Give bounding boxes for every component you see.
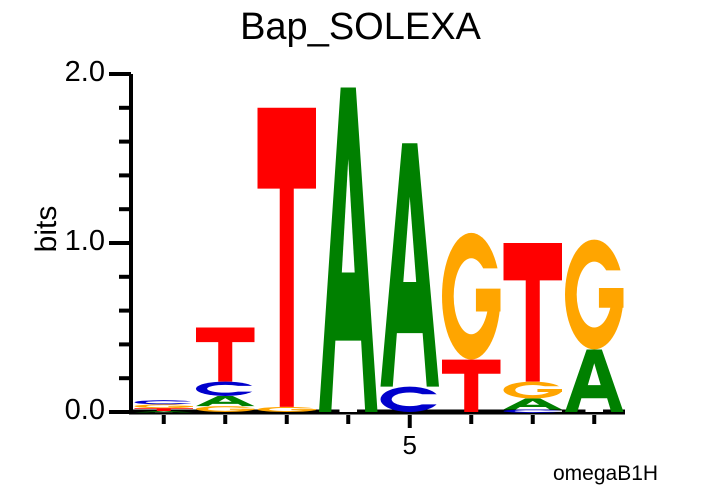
logo-letter-A	[504, 398, 563, 409]
logo-letter-C	[504, 409, 563, 412]
logo-column	[504, 243, 563, 413]
logo-letter-A	[319, 88, 378, 412]
y-axis-tick-label: 1.0	[0, 227, 105, 256]
letter-C-mouth	[414, 394, 439, 404]
letter-C-mouth	[229, 386, 254, 392]
letter-G-bar	[291, 409, 316, 410]
logo-letter-G	[504, 382, 563, 399]
logo-column	[319, 88, 378, 412]
footer-label: omegaB1H	[553, 462, 658, 486]
logo-letter-A	[381, 143, 440, 386]
letter-T-outline	[196, 328, 255, 382]
letter-A-leg-gap	[339, 386, 357, 412]
logo-stacks	[135, 88, 624, 413]
logo-letter-T	[258, 108, 317, 407]
letter-A-leg-gap	[216, 405, 234, 406]
logo-letter-A	[565, 349, 624, 412]
page-title: Bap_SOLEXA	[0, 6, 721, 49]
logo-letter-A	[196, 396, 255, 406]
x-axis-tick-label: 5	[380, 432, 440, 458]
y-axis-tick-label: 0.0	[0, 396, 105, 425]
letter-T-outline	[442, 360, 501, 412]
logo-column	[381, 143, 440, 412]
logo-letter-T	[442, 360, 501, 412]
logo-column	[258, 108, 317, 412]
logo-column	[442, 233, 501, 412]
logo-letter-G	[442, 233, 501, 360]
logo-column	[196, 328, 255, 413]
logo-letter-T	[196, 328, 255, 382]
logo-letter-G	[258, 407, 317, 412]
letter-G-bar	[168, 406, 193, 407]
logo-letter-C	[381, 387, 440, 412]
logo-letter-C	[135, 400, 194, 404]
letter-A-leg-gap	[585, 407, 603, 412]
sequence-logo-figure: Bap_SOLEXA bits 2.01.00.0 5 omegaB1H	[0, 0, 721, 496]
logo-letter-G	[196, 406, 255, 412]
logo-letter-C	[196, 382, 255, 396]
letter-G-bar	[476, 289, 501, 312]
letter-T-outline	[504, 243, 563, 382]
logo-letter-T	[504, 243, 563, 382]
logo-letter-G	[135, 404, 194, 408]
letter-A-leg-gap	[401, 367, 419, 386]
letter-T-outline	[258, 108, 317, 407]
letter-G-bar	[230, 409, 255, 410]
letter-G-bar	[599, 288, 624, 308]
letter-A-leg-gap	[524, 409, 542, 410]
letter-C-mouth	[537, 410, 562, 411]
letter-C-mouth	[168, 401, 193, 403]
logo-letter-G	[565, 240, 624, 350]
logo-column	[565, 240, 624, 412]
y-axis-tick-label: 2.0	[0, 58, 105, 87]
letter-G-bar	[537, 389, 562, 392]
logo-canvas	[0, 0, 721, 496]
